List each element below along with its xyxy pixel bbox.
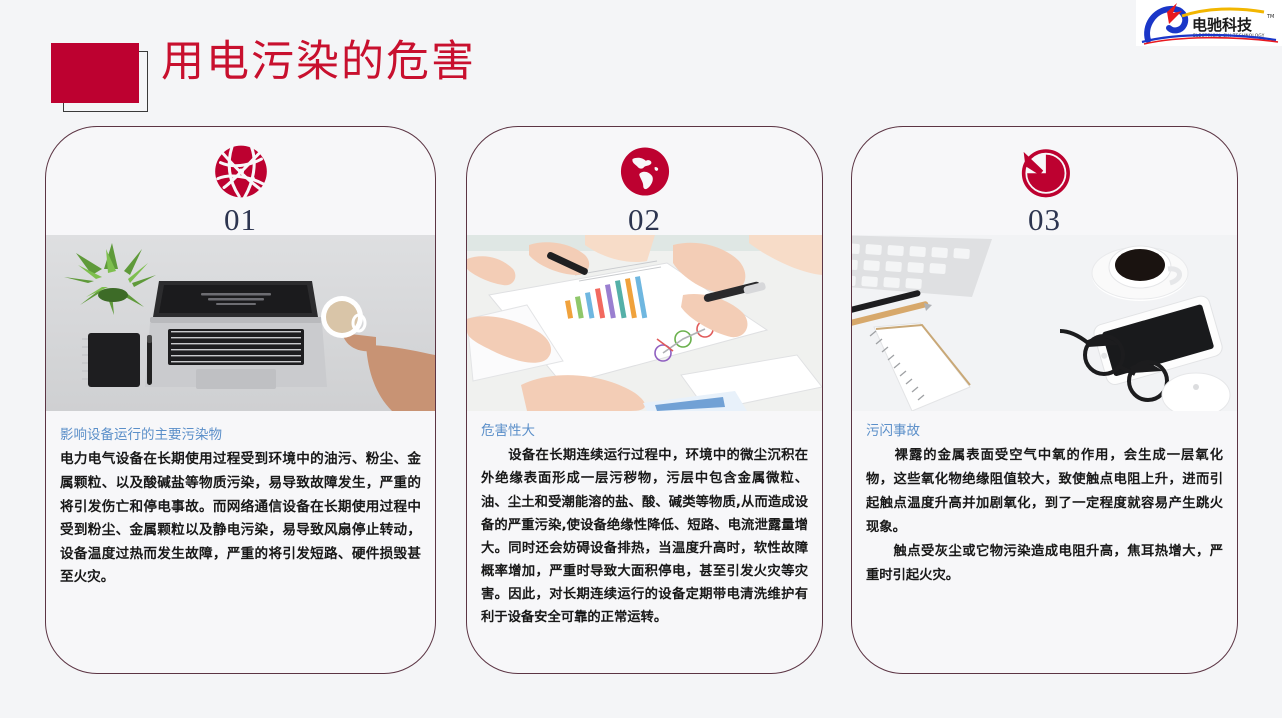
- card-subtitle: 危害性大: [481, 421, 808, 441]
- card-subtitle: 影响设备运行的主要污染物: [60, 425, 421, 445]
- page-title: 用电污染的危害: [161, 39, 476, 86]
- card-header: 02: [467, 127, 822, 235]
- card-body: 危害性大 设备在长期连续运行过程中，环境中的微尘沉积在外绝缘表面形成一层污秽物，…: [467, 411, 822, 629]
- info-card-03[interactable]: 03: [851, 126, 1238, 674]
- card-number: 02: [628, 204, 661, 235]
- card-subtitle: 污闪事故: [866, 421, 1223, 441]
- card-body: 影响设备运行的主要污染物 电力电气设备在长期使用过程受到环境中的油污、粉尘、金属…: [46, 411, 435, 590]
- card-paragraph: 裸露的金属表面受空气中氧的作用，会生成一层氧化物，这些氧化物绝缘阻值较大，致使触…: [866, 444, 1223, 588]
- slide-canvas: 电驰科技 ELECTRICAL CHI TECHNOLOGY TM 用电污染的危…: [0, 0, 1282, 718]
- svg-text:TM: TM: [1266, 14, 1274, 20]
- company-logo: 电驰科技 ELECTRICAL CHI TECHNOLOGY TM: [1136, 0, 1282, 46]
- earth-globe-icon: [614, 143, 676, 200]
- hands-pointing-charts-meeting-photo: [467, 235, 822, 411]
- info-card-02[interactable]: 02: [466, 126, 823, 674]
- card-body: 污闪事故 裸露的金属表面受空气中氧的作用，会生成一层氧化物，这些氧化物绝缘阻值较…: [852, 411, 1237, 588]
- card-header: 01: [46, 127, 435, 235]
- info-card-01[interactable]: 01: [45, 126, 436, 674]
- title-square-fill: [51, 43, 139, 103]
- card-paragraph: 电力电气设备在长期使用过程受到环境中的油污、粉尘、金属颗粒、以及酸碱盐等物质污染…: [60, 448, 421, 590]
- card-number: 03: [1028, 204, 1061, 235]
- network-globe-icon: [210, 143, 272, 200]
- card-paragraph: 设备在长期连续运行过程中，环境中的微尘沉积在外绝缘表面形成一层污秽物，污层中包含…: [481, 444, 808, 629]
- desk-keyboard-phone-glasses-coffee-photo: [852, 235, 1237, 411]
- card-number: 01: [224, 204, 257, 235]
- card-header: 03: [852, 127, 1237, 235]
- pie-chart-icon: [1014, 143, 1076, 200]
- desk-laptop-plant-coffee-photo: [46, 235, 435, 411]
- svg-text:电驰科技: 电驰科技: [1192, 16, 1253, 34]
